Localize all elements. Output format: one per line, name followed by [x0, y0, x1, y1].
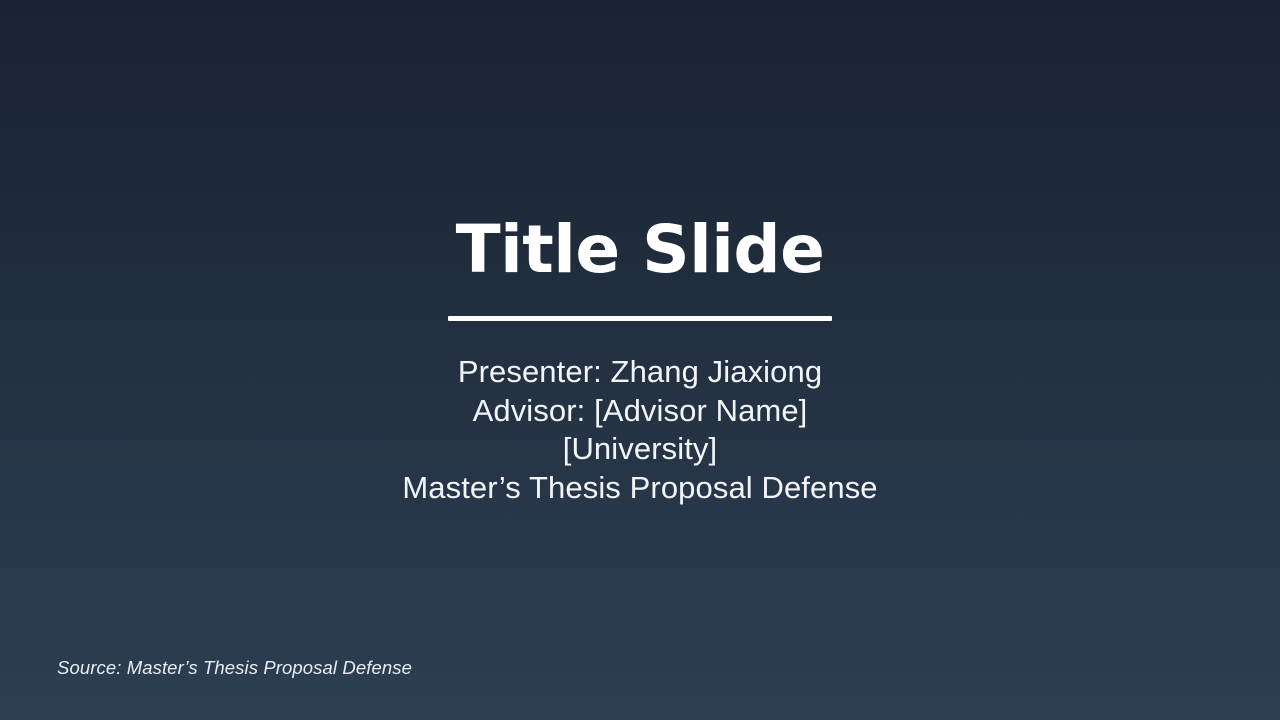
- page-title: Title Slide: [0, 214, 1280, 285]
- title-slide: Title Slide Presenter: Zhang Jiaxiong Ad…: [0, 0, 1280, 720]
- subtitle-block: Presenter: Zhang Jiaxiong Advisor: [Advi…: [0, 353, 1280, 507]
- subtitle-line-event: Master’s Thesis Proposal Defense: [0, 469, 1280, 508]
- subtitle-line-university: [University]: [0, 430, 1280, 469]
- subtitle-line-presenter: Presenter: Zhang Jiaxiong: [0, 353, 1280, 392]
- title-divider: [448, 316, 832, 321]
- subtitle-line-advisor: Advisor: [Advisor Name]: [0, 392, 1280, 431]
- title-block: Title Slide: [0, 214, 1280, 321]
- source-note: Source: Master’s Thesis Proposal Defense: [57, 656, 412, 680]
